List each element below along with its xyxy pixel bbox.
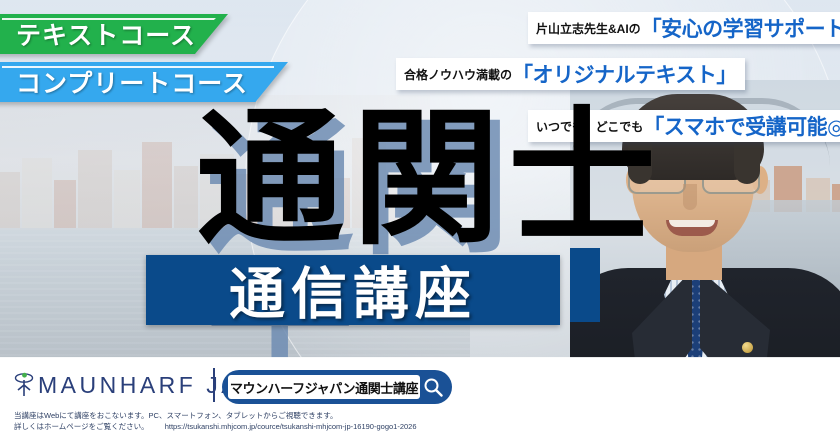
main-title-block: 通関士 通関士: [196, 104, 664, 254]
callout-support-highlight: 「安心の学習サポート」: [641, 13, 840, 43]
main-title-text: 通関士: [196, 93, 664, 265]
fineprint: 当講座はWebにて講座をおこないます。PC、スマートフォン、タブレットからご視聴…: [14, 410, 417, 432]
fineprint-line2: 詳しくはホームページをご覧ください。: [14, 422, 149, 431]
advertisement-banner: テキストコース コンプリートコース 片山立志先生&AIの 「安心の学習サポート」…: [0, 0, 840, 440]
callout-text-prefix: 合格ノウハウ満載の: [404, 66, 512, 83]
search-icon[interactable]: [420, 377, 446, 397]
callout-text-highlight: 「オリジナルテキスト」: [512, 59, 737, 89]
callout-original-text: 合格ノウハウ満載の 「オリジナルテキスト」: [396, 58, 745, 90]
main-title: 通関士 通関士: [196, 104, 664, 254]
ribbon-text-course[interactable]: テキストコース: [0, 14, 228, 54]
search-query-text: マウンハーフジャパン通関士講座: [230, 378, 418, 397]
nose: [683, 184, 697, 210]
search-bar[interactable]: マウンハーフジャパン通関士講座: [222, 370, 452, 404]
search-input[interactable]: マウンハーフジャパン通関士講座: [228, 375, 420, 399]
lapel-pin: [742, 342, 753, 353]
fineprint-line1: 当講座はWebにて講座をおこないます。PC、スマートフォン、タブレットからご視聴…: [14, 410, 417, 421]
callout-support-prefix: 片山立志先生&AIの: [536, 20, 641, 37]
subtitle-bar: 通信講座: [146, 255, 560, 325]
logo-divider: [213, 368, 215, 402]
subtitle-text: 通信講座: [146, 250, 560, 331]
course-url[interactable]: https://tsukanshi.mhjcom.jp/cource/tsuka…: [165, 422, 417, 431]
ribbon-text-course-label: テキストコース: [16, 16, 196, 52]
footer: MAUNHARF JAPAN マウンハーフジャパン通関士講座 当講座はWebにて…: [0, 358, 840, 440]
maunharf-logo-icon: [14, 372, 34, 398]
mouth: [666, 220, 718, 236]
callout-smart-highlight: 「スマホで受講可能◎」: [643, 111, 840, 141]
callout-support: 片山立志先生&AIの 「安心の学習サポート」: [528, 12, 840, 44]
